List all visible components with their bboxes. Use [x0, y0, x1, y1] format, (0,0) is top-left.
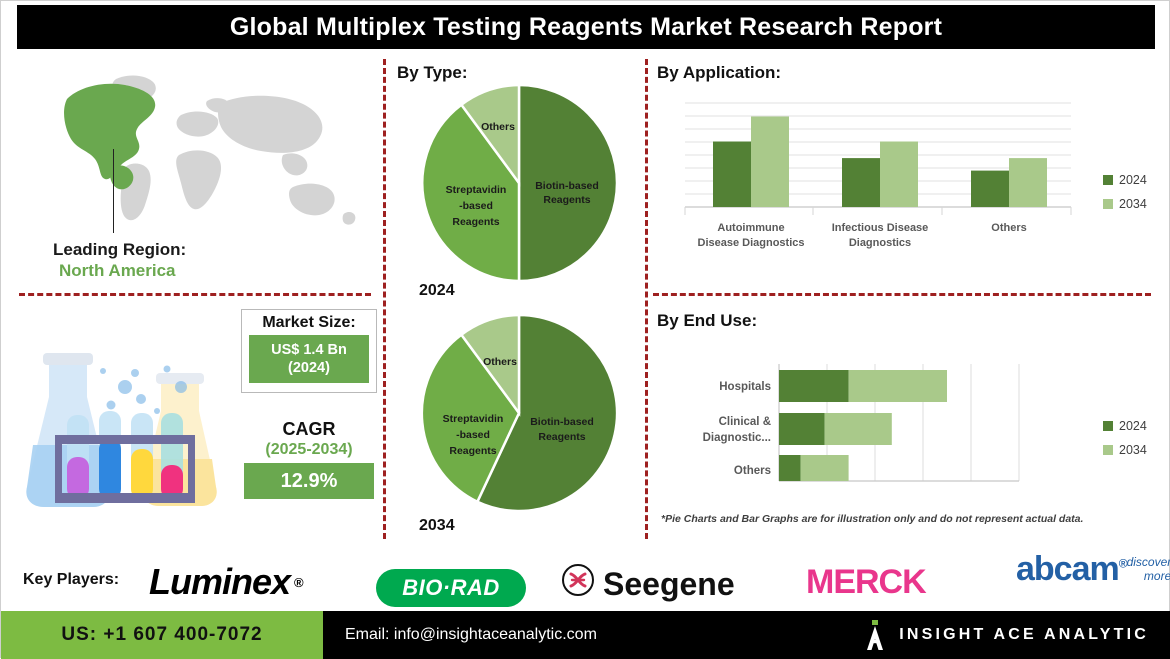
- logo-abcam-main: abcam®: [1016, 553, 1127, 585]
- app-cat-label-2: Others: [991, 222, 1026, 234]
- svg-text:-based: -based: [459, 200, 493, 212]
- logo-seegene-text: Seegene: [603, 566, 735, 603]
- logo-luminex: Luminex ®: [149, 561, 303, 603]
- svg-text:Reagents: Reagents: [452, 216, 499, 228]
- divider-right-horizontal: [653, 293, 1151, 296]
- by-end-use-title: By End Use:: [657, 311, 757, 331]
- bar-2034-infectious: [880, 142, 918, 208]
- bar-2024-infectious: [842, 158, 880, 207]
- divider-vertical-left: [383, 59, 386, 539]
- page-title: Global Multiplex Testing Reagents Market…: [230, 13, 942, 42]
- enduse-cat-label-1: Clinical &: [719, 416, 771, 428]
- bar-2034-clinical: [825, 413, 892, 445]
- end-use-bar-chart: Hospitals Clinical & Diagnostic... Other…: [661, 356, 1101, 516]
- legend-swatch-2024-enduse: [1103, 421, 1113, 431]
- legend-label-2024-enduse: 2024: [1119, 419, 1147, 433]
- logo-abcam-text: abcam: [1016, 550, 1119, 588]
- legend-label-2034: 2034: [1119, 197, 1147, 211]
- header-banner: Global Multiplex Testing Reagents Market…: [17, 5, 1155, 49]
- cagr-years: (2025-2034): [241, 441, 377, 459]
- market-size-label: Market Size:: [262, 314, 355, 332]
- logo-abcam-tagline: discover more: [1127, 555, 1170, 583]
- legend-item-2024: 2024: [1103, 173, 1147, 187]
- bar-2034-others-enduse: [801, 455, 849, 481]
- bar-2034-hospitals: [849, 370, 947, 402]
- bar-2024-others-enduse: [779, 455, 801, 481]
- key-players-label: Key Players:: [23, 571, 119, 589]
- seegene-dna-icon: [561, 563, 595, 605]
- enduse-cat-label-2: Others: [734, 465, 771, 477]
- logo-seegene: Seegene: [561, 563, 735, 605]
- legend-swatch-2024: [1103, 175, 1113, 185]
- pie-2034-label-others: Others: [483, 356, 517, 368]
- logo-luminex-text: Luminex: [149, 561, 290, 603]
- bar-2024-clinical: [779, 413, 825, 445]
- cagr-label: CAGR: [241, 419, 377, 440]
- world-map: [21, 63, 366, 233]
- logo-abcam-registered: ®: [1119, 557, 1127, 571]
- leading-region-label: Leading Region:: [21, 239, 281, 260]
- svg-text:Diagnostics: Diagnostics: [849, 237, 911, 249]
- footer-contact-block: Email: info@insightaceanalytic.com INSIG…: [323, 611, 1170, 659]
- bar-2024-hospitals: [779, 370, 849, 402]
- leading-region-block: Leading Region: North America: [21, 239, 281, 282]
- pie-2024-label-biotin: Biotin-based: [535, 180, 599, 192]
- chart-footnote: *Pie Charts and Bar Graphs are for illus…: [661, 513, 1131, 525]
- cagr-card: CAGR (2025-2034) 12.9%: [241, 419, 377, 499]
- insightace-logo-icon: [865, 620, 885, 650]
- app-cat-label-0: Autoimmune: [717, 222, 784, 234]
- leading-region-value: North America: [21, 260, 281, 281]
- bar-2024-autoimmune: [713, 142, 751, 208]
- footer-brand: INSIGHT ACE ANALYTIC: [865, 611, 1149, 659]
- legend-item-2034: 2034: [1103, 197, 1147, 211]
- pie-2034-label-biotin: Biotin-based: [530, 416, 594, 428]
- pie-2024-label-others: Others: [481, 121, 515, 133]
- divider-vertical-right: [645, 59, 648, 539]
- legend-swatch-2034: [1103, 199, 1113, 209]
- market-size-value: US$ 1.4 Bn: [271, 341, 347, 359]
- lab-equipment-illustration: [15, 327, 235, 532]
- legend-swatch-2034-enduse: [1103, 445, 1113, 455]
- logo-abcam: abcam® discover more: [1016, 553, 1170, 585]
- legend-label-2024: 2024: [1119, 173, 1147, 187]
- application-column-chart: Autoimmune Disease Diagnostics Infectiou…: [661, 91, 1101, 261]
- infographic-page: Global Multiplex Testing Reagents Market…: [0, 0, 1170, 658]
- pie-2034-label-streptavidin: Streptavidin: [443, 413, 504, 425]
- enduse-cat-label-0: Hospitals: [719, 381, 771, 393]
- footer-phone: US: +1 607 400-7072: [61, 624, 262, 646]
- pie-chart-2024: Biotin-based Reagents Streptavidin -base…: [419, 83, 619, 283]
- logo-biorad: BIO·RAD: [376, 569, 526, 607]
- footer-email: Email: info@insightaceanalytic.com: [345, 626, 597, 644]
- footer-brand-text: INSIGHT ACE ANALYTIC: [899, 626, 1149, 644]
- svg-text:Reagents: Reagents: [543, 194, 590, 206]
- legend-item-2024-enduse: 2024: [1103, 419, 1147, 433]
- market-size-value-box: US$ 1.4 Bn (2024): [249, 335, 369, 383]
- app-cat-label-1: Infectious Disease: [832, 222, 929, 234]
- bar-2024-others: [971, 171, 1009, 207]
- logo-biorad-text: BIO·RAD: [402, 575, 500, 601]
- bar-2034-autoimmune: [751, 117, 789, 208]
- svg-text:Reagents: Reagents: [449, 445, 496, 457]
- by-type-title: By Type:: [397, 63, 468, 83]
- pie-chart-2034: Biotin-based Reagents Streptavidin -base…: [419, 313, 619, 513]
- pie-2024-year: 2024: [419, 282, 455, 300]
- pie-2024-label-streptavidin: Streptavidin: [446, 184, 507, 196]
- legend-item-2034-enduse: 2034: [1103, 443, 1147, 457]
- application-legend: 2024 2034: [1103, 173, 1147, 221]
- end-use-legend: 2024 2034: [1103, 419, 1147, 467]
- pie-2034-year: 2034: [419, 517, 455, 535]
- footer-phone-block: US: +1 607 400-7072: [1, 611, 323, 659]
- divider-left-horizontal: [19, 293, 371, 296]
- bar-2034-others: [1009, 158, 1047, 207]
- svg-text:Reagents: Reagents: [538, 431, 585, 443]
- cagr-value: 12.9%: [244, 463, 374, 499]
- svg-text:Diagnostic...: Diagnostic...: [703, 432, 771, 444]
- market-size-year: (2024): [288, 359, 330, 377]
- by-application-title: By Application:: [657, 63, 781, 83]
- logo-merck-text: Merck: [806, 563, 926, 602]
- map-pointer-line: [113, 149, 114, 233]
- logo-merck: Merck: [806, 563, 926, 602]
- legend-label-2034-enduse: 2034: [1119, 443, 1147, 457]
- svg-text:-based: -based: [456, 429, 490, 441]
- svg-text:Disease Diagnostics: Disease Diagnostics: [698, 237, 805, 249]
- market-size-card: Market Size: US$ 1.4 Bn (2024): [241, 309, 377, 393]
- logo-luminex-registered: ®: [294, 575, 303, 590]
